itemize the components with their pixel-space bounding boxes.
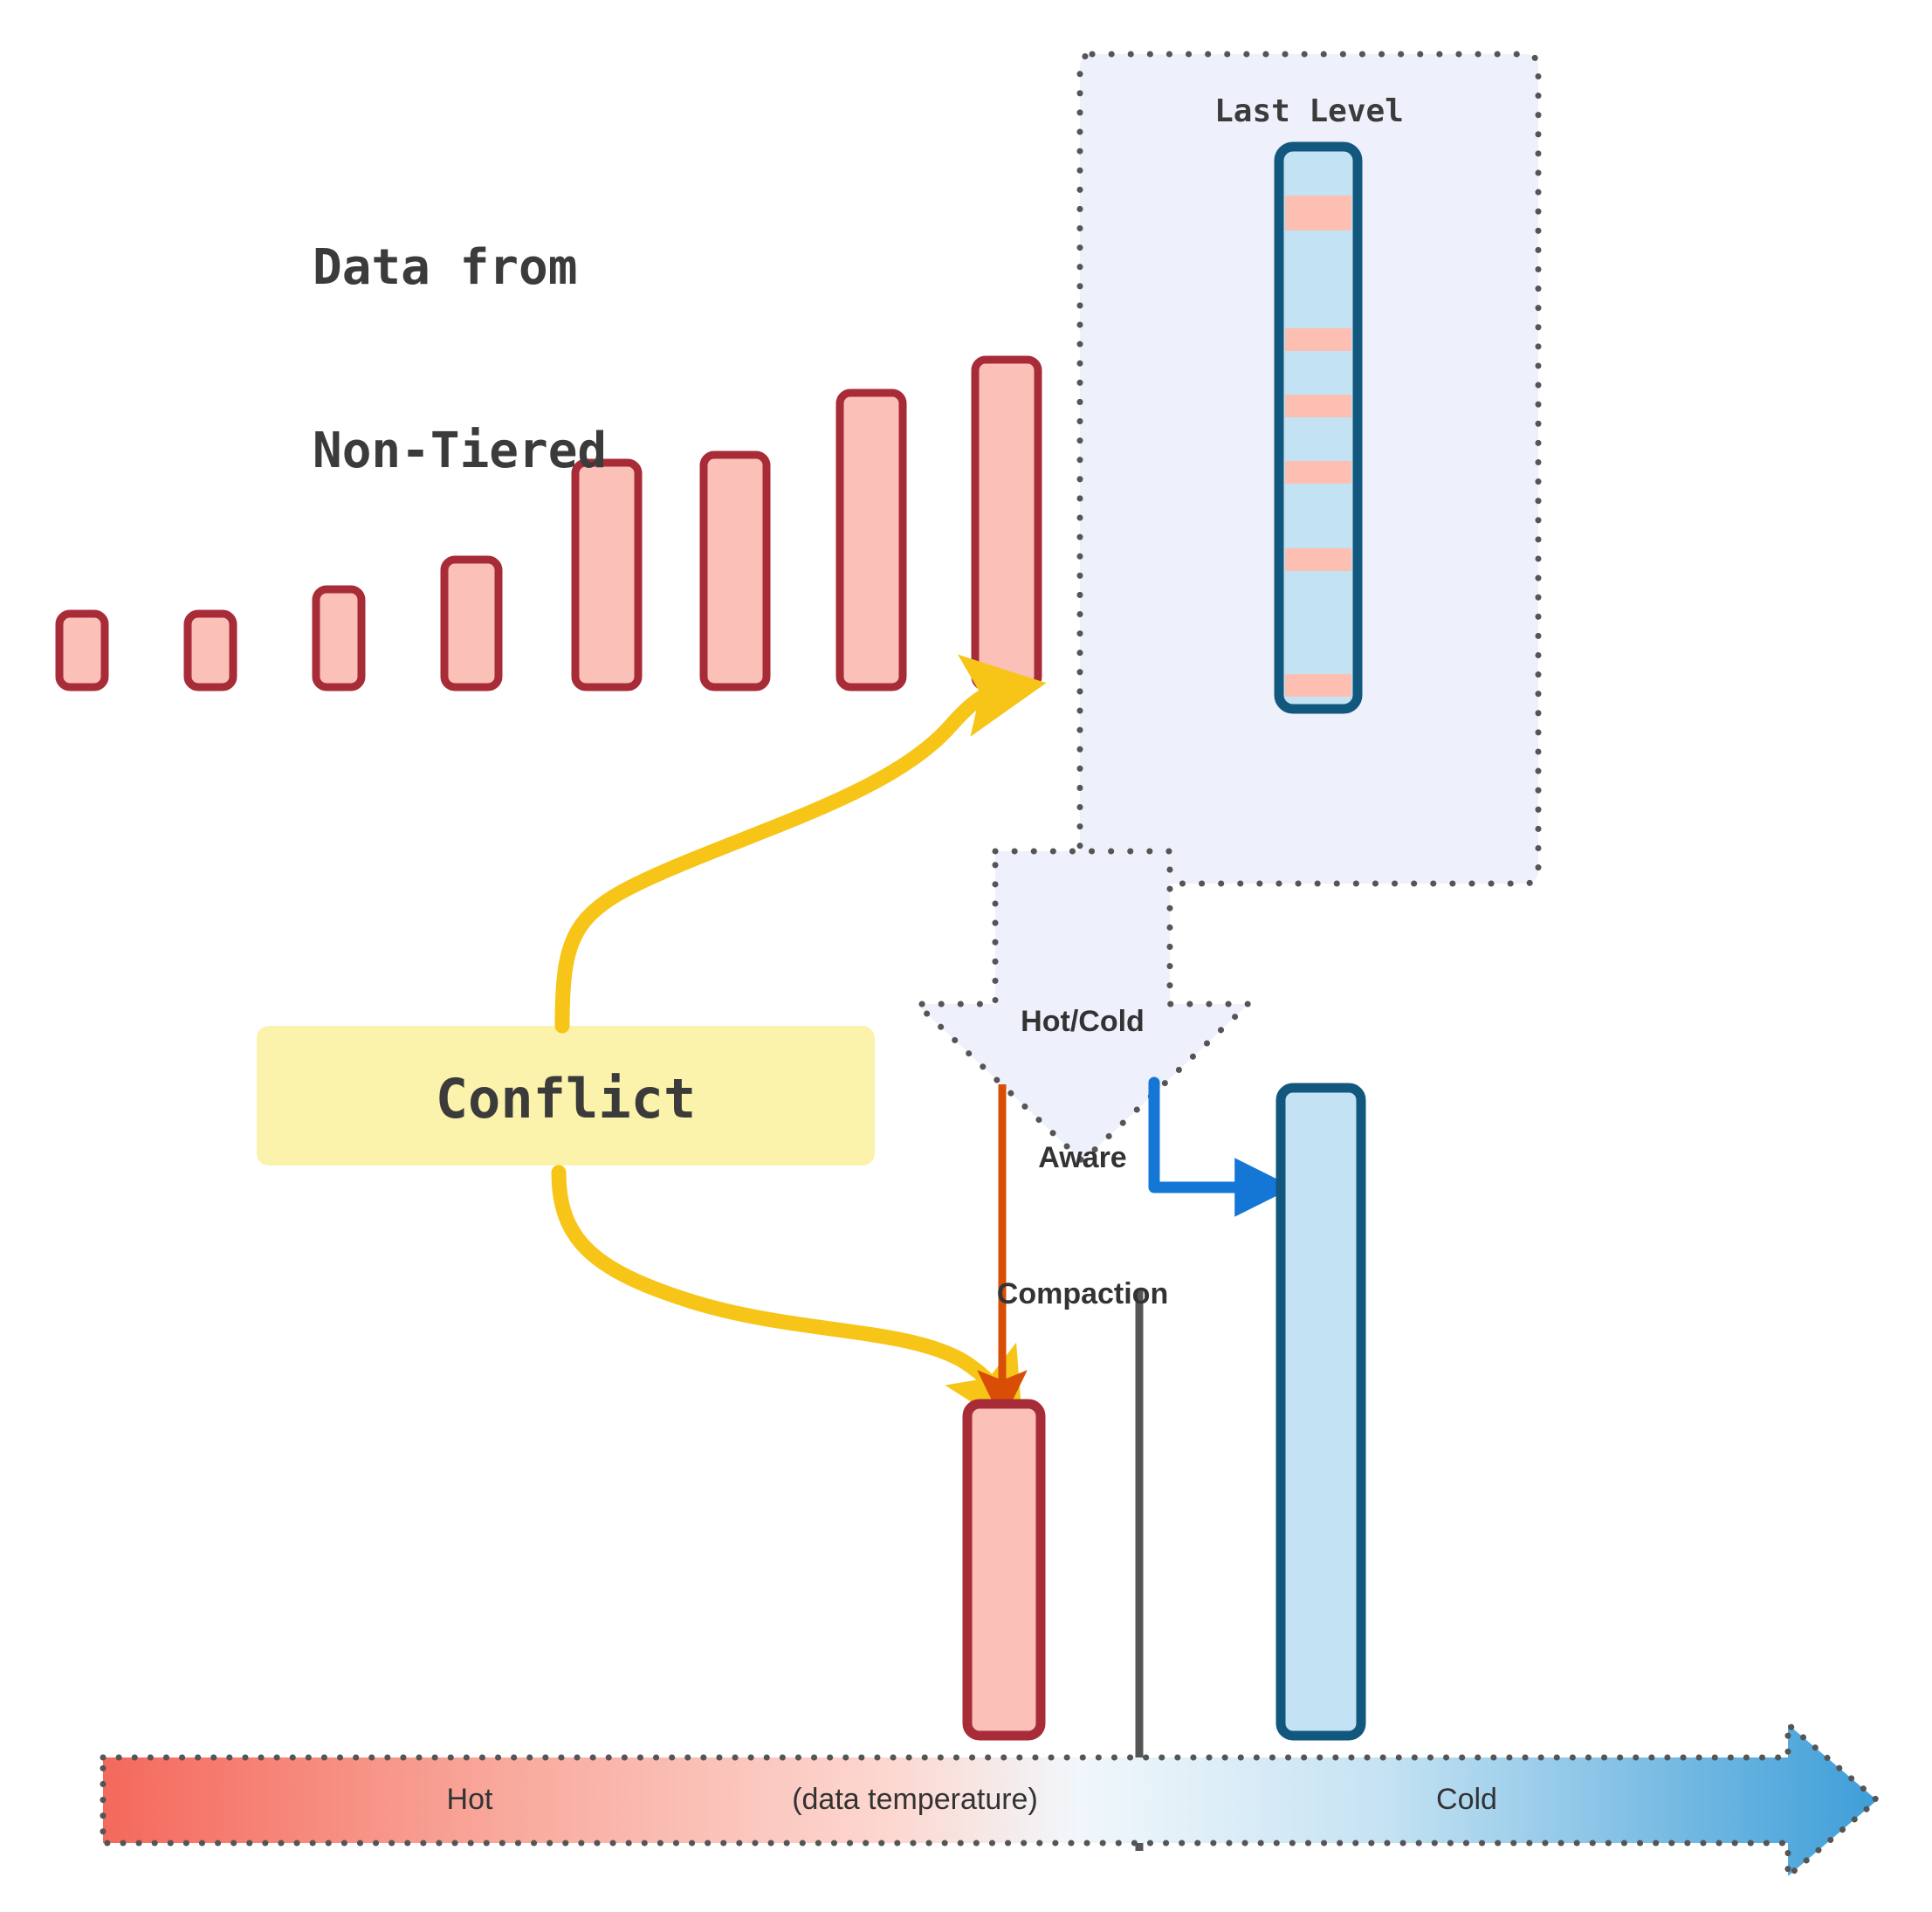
conflict-arrow-down: [559, 1173, 1000, 1397]
compaction-label: Hot/Cold Aware Compaction: [943, 908, 1222, 1407]
hot-run-after-compaction: [967, 1404, 1041, 1736]
hot-stripe: [1285, 674, 1351, 697]
hot-stripe: [1285, 461, 1351, 484]
last-level-run: [1279, 147, 1358, 709]
page-title-line2: Non-Tiered: [313, 421, 784, 482]
non-tiered-bar: [840, 393, 903, 687]
hot-stripe: [1285, 328, 1351, 351]
last-level-label: Last Level: [1080, 93, 1538, 129]
non-tiered-bar: [59, 614, 105, 687]
non-tiered-bar: [975, 360, 1038, 687]
last-level-run-body: [1279, 147, 1358, 709]
page-title-line1: Data from: [313, 237, 784, 299]
compaction-label-line3: Compaction: [943, 1271, 1222, 1317]
temperature-cold-label: Cold: [1371, 1783, 1563, 1817]
hot-stripe: [1285, 395, 1351, 417]
temperature-center-label: (data temperature): [732, 1783, 1098, 1817]
hot-stripe: [1285, 548, 1351, 571]
non-tiered-bar: [188, 614, 233, 687]
compaction-label-line2: Aware: [943, 1135, 1222, 1180]
conflict-arrow-up: [562, 690, 1002, 1026]
compaction-label-line1: Hot/Cold: [943, 999, 1222, 1044]
diagram-canvas: Data from Non-Tiered Last Level Conflict…: [0, 0, 1932, 1912]
temperature-hot-label: Hot: [400, 1783, 540, 1817]
page-title: Data from Non-Tiered: [313, 115, 784, 604]
hot-stripe: [1285, 196, 1351, 230]
cold-run-after-compaction: [1281, 1088, 1361, 1736]
conflict-label: Conflict: [257, 1067, 875, 1131]
